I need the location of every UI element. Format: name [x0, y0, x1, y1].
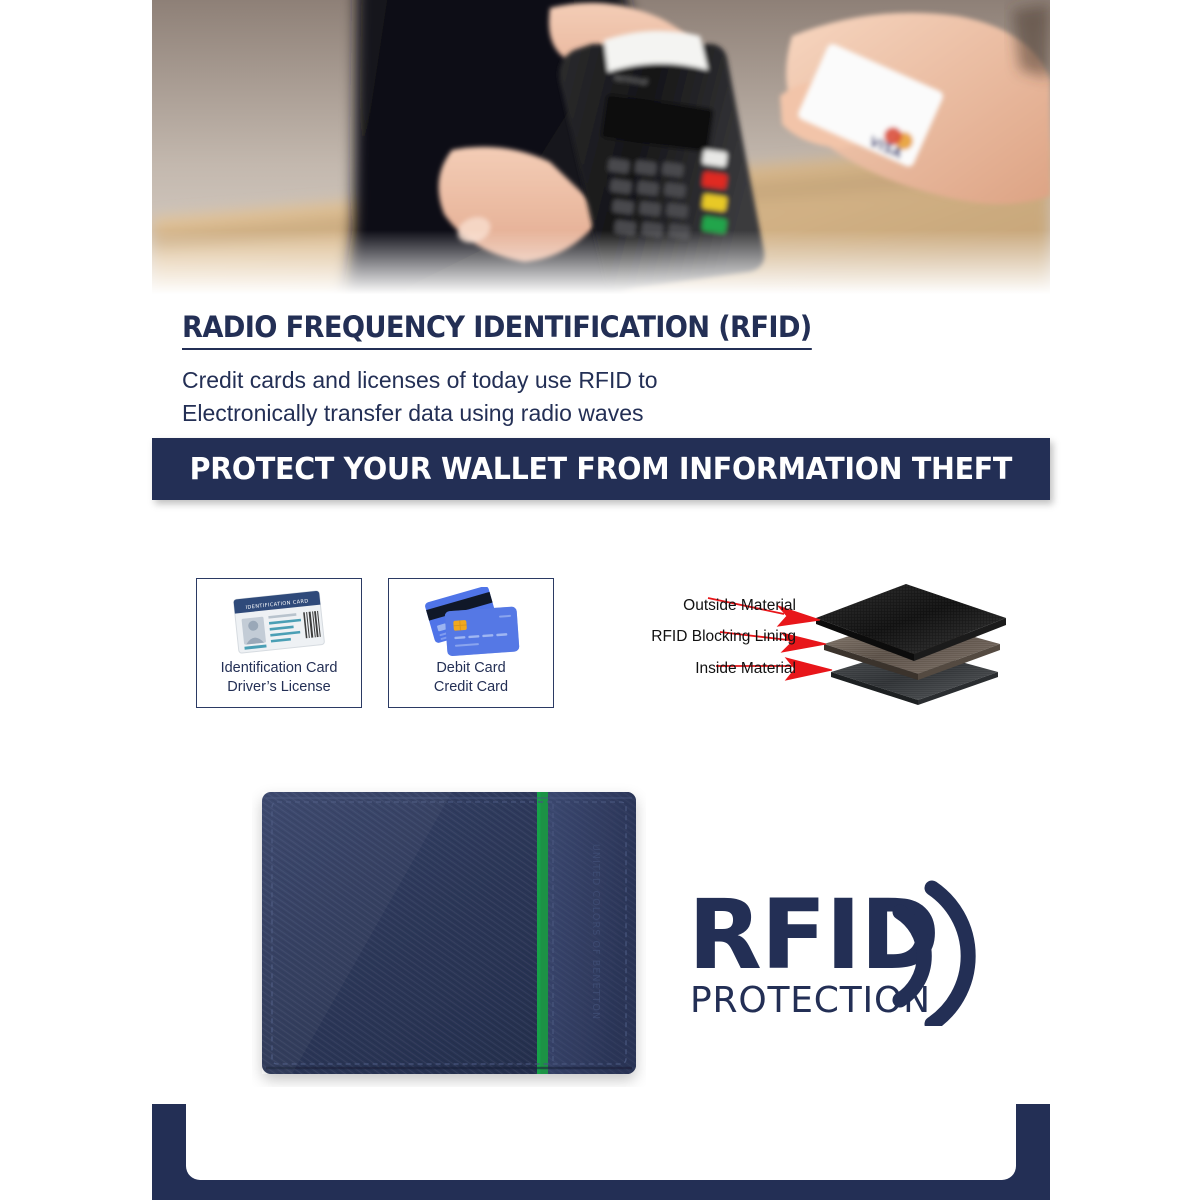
- contactless-payment-illustration: terminal: [152, 0, 1050, 300]
- caption-line-2: Credit Card: [434, 678, 508, 697]
- identification-card-icon: IDENTIFICATION CARD: [224, 579, 334, 659]
- navy-bifold-wallet-graphic: UNITED COLORS OF BENETTON: [252, 782, 646, 1087]
- caption-line-2: Driver’s License: [221, 678, 338, 697]
- credit-card-icon: [416, 579, 526, 659]
- page-title: RADIO FREQUENCY IDENTIFICATION (RFID): [182, 310, 812, 350]
- rfid-logo-primary-text: RFID: [688, 879, 939, 991]
- card-box-caption: Identification Card Driver’s License: [221, 659, 338, 697]
- rfid-protection-logo-graphic: RFID PROTECTION: [688, 866, 988, 1026]
- card-box-identification: IDENTIFICATION CARD: [196, 578, 362, 708]
- protection-banner: PROTECT YOUR WALLET FROM INFORMATION THE…: [152, 438, 1050, 500]
- layer-label-outside-material: Outside Material: [683, 597, 796, 615]
- banner-label: PROTECT YOUR WALLET FROM INFORMATION THE…: [190, 452, 1012, 487]
- layer-label-rfid-blocking-lining: RFID Blocking Lining: [651, 628, 796, 646]
- debit-credit-card-graphic: [416, 587, 526, 657]
- bottom-frame-graphic: [152, 1104, 1050, 1200]
- rfid-protection-logo: RFID PROTECTION: [688, 866, 988, 1026]
- material-layer-diagram: Outside Material RFID Blocking Lining In…: [588, 576, 1018, 712]
- poster-root: terminal: [0, 0, 1200, 1200]
- card-box-payment: Debit Card Credit Card: [388, 578, 554, 708]
- hero-photo: terminal: [152, 0, 1050, 300]
- headline-block: RADIO FREQUENCY IDENTIFICATION (RFID) Cr…: [182, 310, 882, 430]
- layer-label-group: Outside Material RFID Blocking Lining In…: [588, 576, 1018, 712]
- caption-line-1: Debit Card: [434, 659, 508, 678]
- card-box-caption: Debit Card Credit Card: [434, 659, 508, 697]
- id-card-graphic: IDENTIFICATION CARD: [224, 587, 334, 657]
- bottom-decorative-frame: [152, 1104, 1050, 1200]
- subtitle-line-2: Electronically transfer data using radio…: [182, 397, 882, 430]
- subtitle-line-1: Credit cards and licenses of today use R…: [182, 364, 882, 397]
- wallet-product-photo: UNITED COLORS OF BENETTON: [252, 782, 646, 1087]
- caption-line-1: Identification Card: [221, 659, 338, 678]
- page-subtitle: Credit cards and licenses of today use R…: [182, 364, 882, 430]
- layer-label-inside-material: Inside Material: [695, 660, 796, 678]
- wallet-embossed-brand: UNITED COLORS OF BENETTON: [590, 844, 601, 1020]
